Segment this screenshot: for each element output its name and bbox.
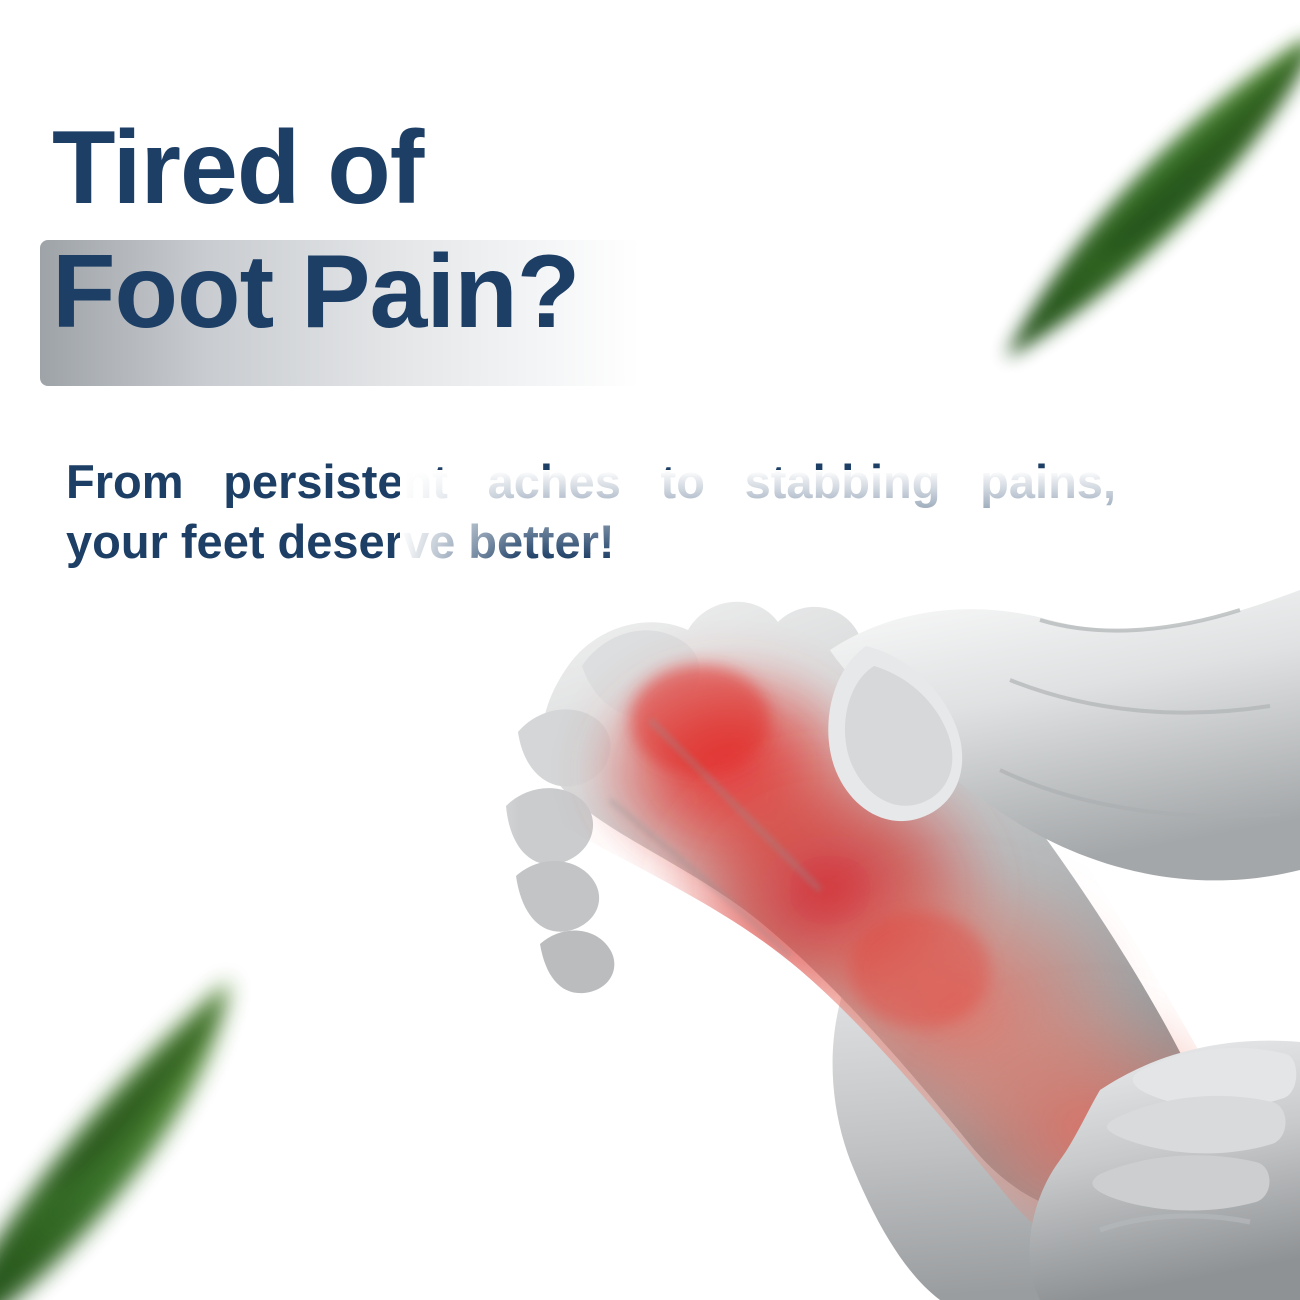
hands-holding-foot — [400, 470, 1300, 1300]
headline-line-1: Tired of — [44, 112, 764, 224]
poster-canvas: Tired of Foot Pain? From persistent ache… — [0, 0, 1300, 1300]
leaf-top-right-icon — [1000, 40, 1300, 370]
leaf-bottom-left-icon — [0, 940, 260, 1300]
page-title: Tired of Foot Pain? — [44, 112, 764, 349]
headline-line-2: Foot Pain? — [44, 236, 609, 348]
headline-line-2-wrapper: Foot Pain? — [44, 236, 609, 348]
foot-pain-photo — [400, 470, 1300, 1300]
